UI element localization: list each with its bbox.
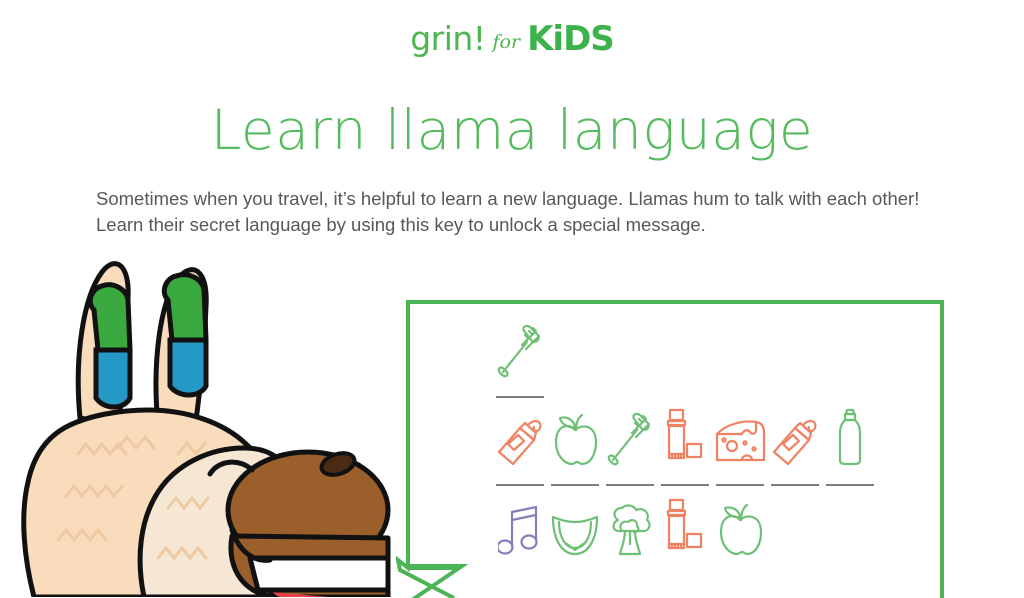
llama-illustration bbox=[18, 258, 418, 597]
answer-blank[interactable] bbox=[496, 396, 544, 398]
broccoli-icon bbox=[604, 492, 656, 556]
answer-blank[interactable] bbox=[716, 484, 764, 486]
cipher-cell bbox=[657, 402, 712, 486]
tassel-green-right bbox=[164, 275, 206, 346]
answer-blank[interactable] bbox=[771, 484, 819, 486]
answer-blank[interactable] bbox=[661, 484, 709, 486]
logo-word-grin: grin! bbox=[410, 19, 485, 58]
water-bottle-icon bbox=[835, 402, 865, 466]
cipher-row-2 bbox=[492, 402, 932, 486]
cipher-cell bbox=[602, 402, 657, 486]
cipher-cell bbox=[492, 314, 547, 398]
toothbrush-icon bbox=[607, 402, 653, 466]
toothbrush-icon bbox=[497, 314, 543, 378]
lip-balm-icon bbox=[665, 492, 705, 556]
cipher-cell bbox=[492, 492, 547, 576]
activity-stage bbox=[0, 258, 1024, 597]
tassel-blue-right bbox=[170, 340, 206, 395]
grin-for-kids-logo[interactable]: grin! for KiDS bbox=[410, 19, 614, 59]
cipher-cell bbox=[657, 492, 712, 576]
lip-balm-icon bbox=[665, 402, 705, 466]
toothpaste-tube-icon bbox=[496, 402, 544, 466]
answer-blank[interactable] bbox=[496, 484, 544, 486]
cipher-cell bbox=[547, 402, 602, 486]
llama-teeth bbox=[250, 558, 388, 590]
cipher-row-1 bbox=[492, 314, 932, 398]
cipher-cell bbox=[492, 402, 547, 486]
toothpaste-tube-icon bbox=[771, 402, 819, 466]
cipher-cell bbox=[712, 402, 767, 486]
answer-blank[interactable] bbox=[551, 484, 599, 486]
logo-word-kids: KiDS bbox=[527, 19, 614, 59]
intro-paragraph: Sometimes when you travel, it’s helpful … bbox=[96, 186, 928, 238]
cipher-key-content bbox=[492, 314, 932, 576]
speech-bubble bbox=[396, 298, 944, 598]
apple-icon bbox=[552, 402, 598, 466]
answer-blank[interactable] bbox=[606, 484, 654, 486]
cheese-wedge-icon bbox=[714, 402, 766, 466]
apple-icon bbox=[717, 492, 763, 556]
tassel-blue-left bbox=[96, 350, 130, 407]
page-title: Learn llama language bbox=[0, 102, 1024, 160]
site-header: grin! for KiDS bbox=[0, 0, 1024, 78]
cipher-cell bbox=[767, 402, 822, 486]
cipher-cell bbox=[712, 492, 767, 576]
mouthguard-icon bbox=[550, 492, 600, 556]
cipher-cell bbox=[547, 492, 602, 576]
answer-blank[interactable] bbox=[826, 484, 874, 486]
tassel-green-left bbox=[90, 285, 130, 356]
cipher-row-3 bbox=[492, 492, 932, 576]
cipher-cell bbox=[822, 402, 877, 486]
cipher-cell bbox=[602, 492, 657, 576]
logo-word-for: for bbox=[493, 31, 521, 53]
music-note-icon bbox=[498, 492, 542, 556]
llama-ear-tassels bbox=[90, 275, 206, 407]
